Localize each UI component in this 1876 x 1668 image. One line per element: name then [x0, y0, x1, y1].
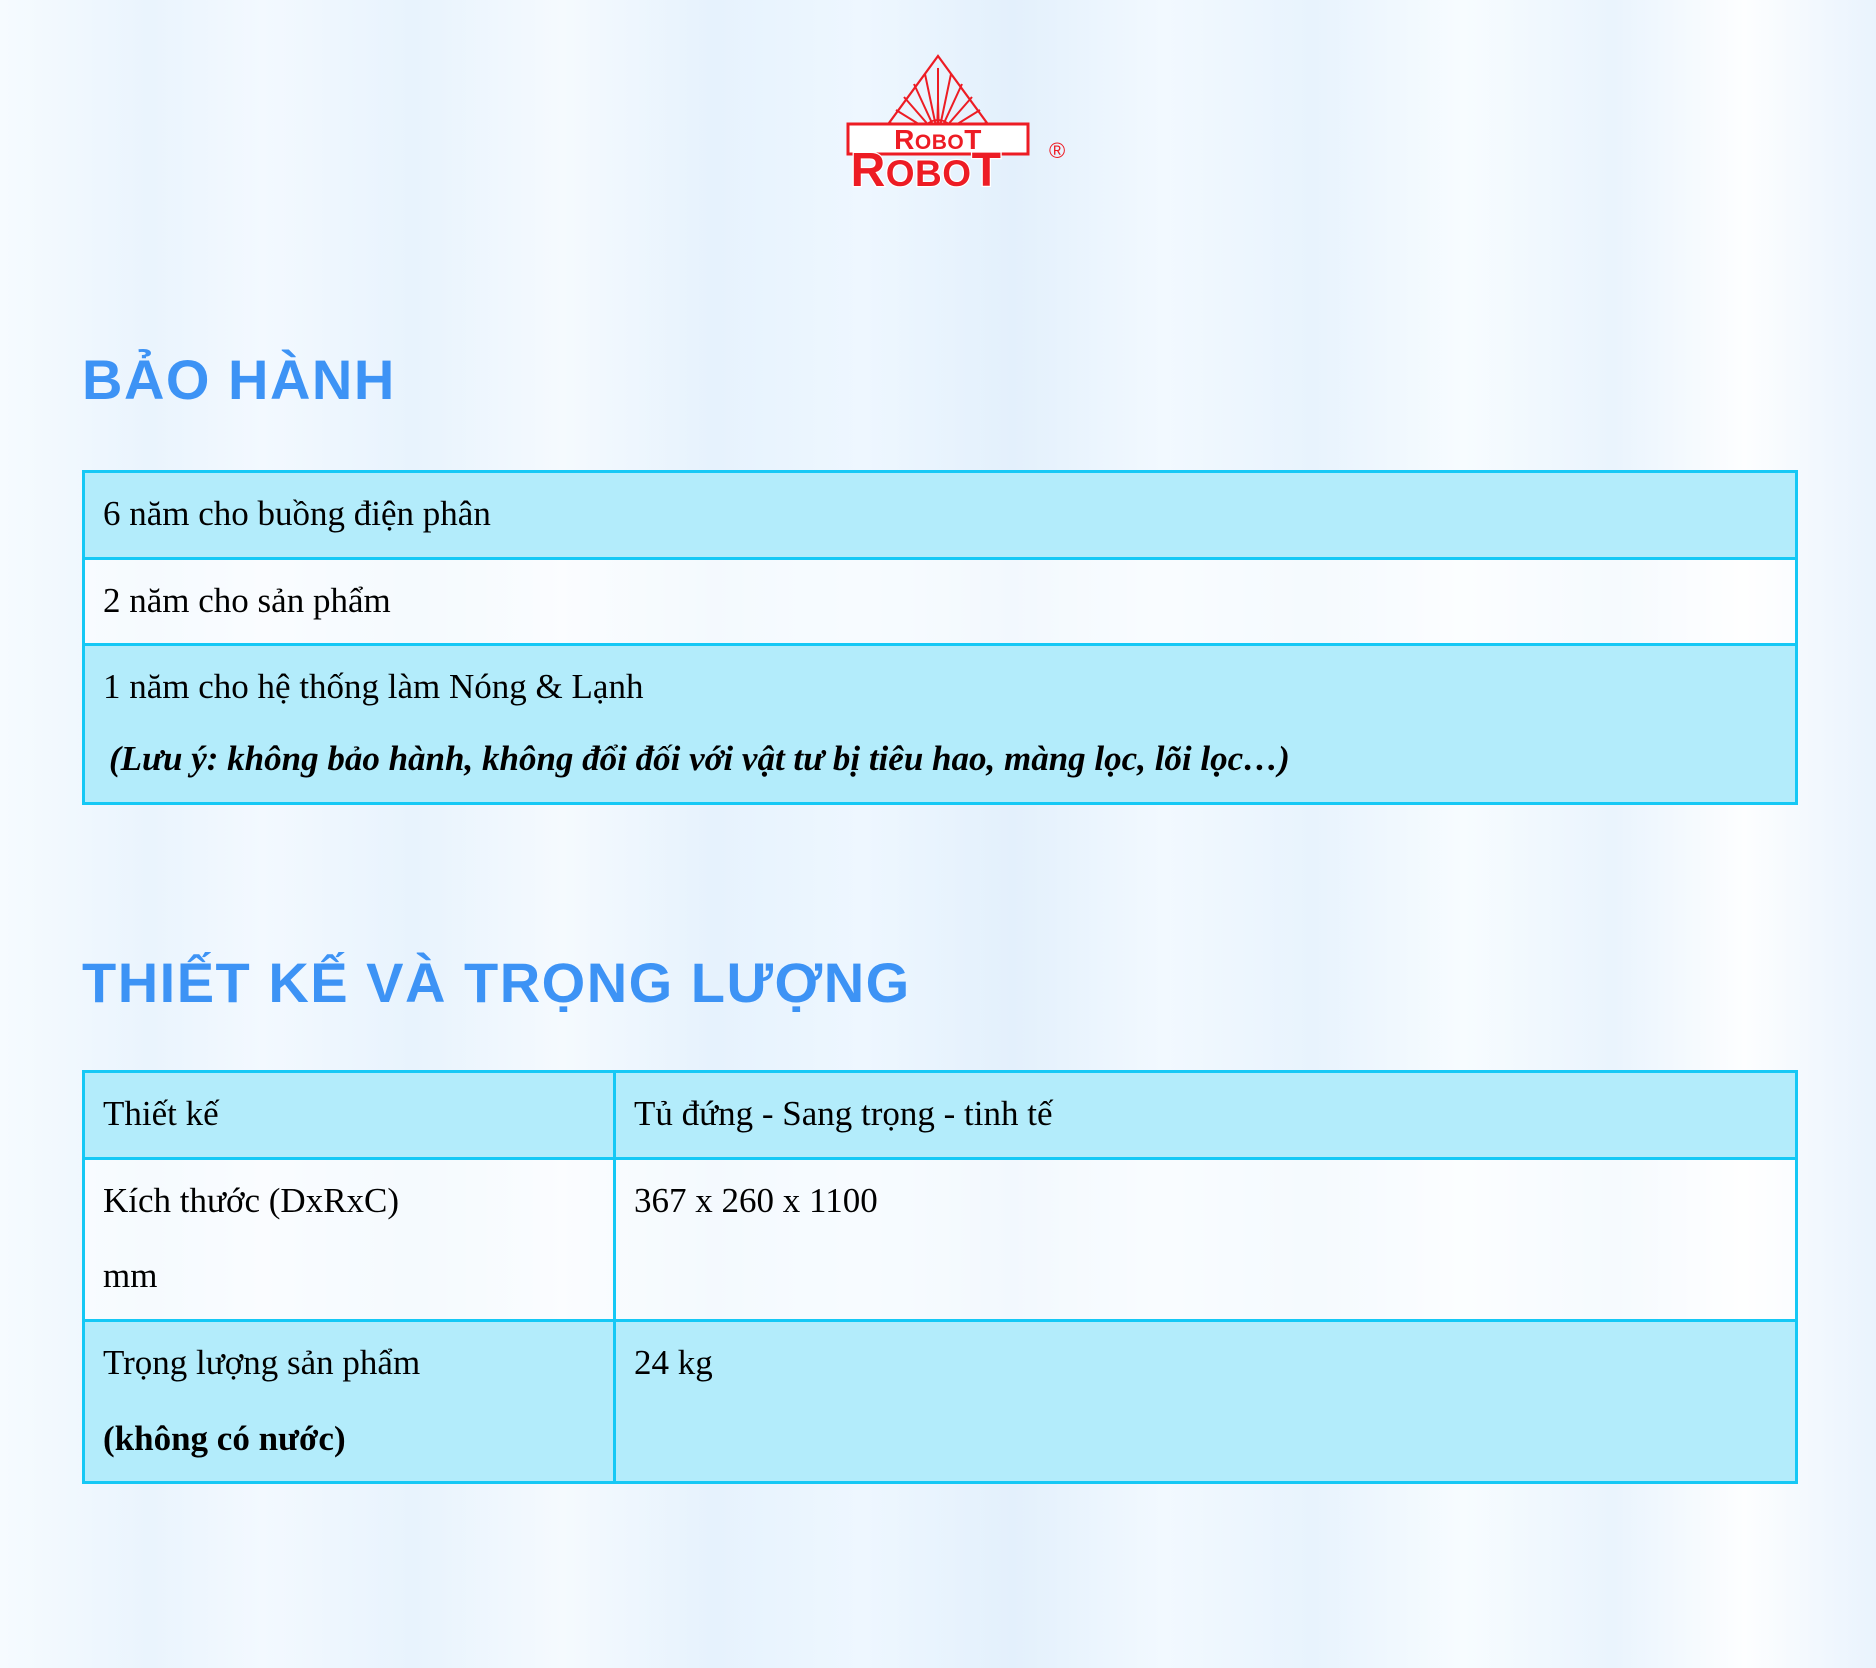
svg-text:®: ® — [1049, 138, 1065, 163]
warranty-item-hot-cold-text: 1 năm cho hệ thống làm Nóng & Lạnh — [103, 667, 643, 706]
table-row: 6 năm cho buồng điện phân — [84, 472, 1797, 559]
robot-logo: ROBOT ROBOT ® — [768, 48, 1108, 188]
warranty-section-heading: BẢO HÀNH — [82, 352, 396, 408]
weight-value: 24 kg — [615, 1321, 1797, 1483]
dimensions-label-line1: Kích thước (DxRxC) — [103, 1181, 399, 1220]
table-row: 1 năm cho hệ thống làm Nóng & Lạnh (Lưu … — [84, 645, 1797, 803]
brand-logo-container: ROBOT ROBOT ® — [0, 48, 1876, 188]
design-weight-table: Thiết kế Tủ đứng - Sang trọng - tinh tế … — [82, 1070, 1798, 1484]
dimensions-label: Kích thước (DxRxC) mm — [84, 1158, 615, 1320]
design-label: Thiết kế — [84, 1072, 615, 1159]
design-value: Tủ đứng - Sang trọng - tinh tế — [615, 1072, 1797, 1159]
weight-label-qualifier: (không có nước) — [103, 1414, 595, 1464]
weight-label: Trọng lượng sản phẩm (không có nước) — [84, 1321, 615, 1483]
warranty-item-electrolysis-chamber: 6 năm cho buồng điện phân — [84, 472, 1797, 559]
table-row: 2 năm cho sản phẩm — [84, 558, 1797, 645]
design-section-heading: THIẾT KẾ VÀ TRỌNG LƯỢNG — [82, 955, 911, 1011]
weight-label-line1: Trọng lượng sản phẩm — [103, 1343, 420, 1382]
dimensions-label-unit: mm — [103, 1251, 595, 1301]
robot-logo-icon: ROBOT ROBOT ® — [768, 48, 1108, 188]
warranty-item-product: 2 năm cho sản phẩm — [84, 558, 1797, 645]
dimensions-value: 367 x 260 x 1100 — [615, 1158, 1797, 1320]
table-row: Kích thước (DxRxC) mm 367 x 260 x 1100 — [84, 1158, 1797, 1320]
warranty-item-hot-cold-system: 1 năm cho hệ thống làm Nóng & Lạnh (Lưu … — [84, 645, 1797, 803]
product-spec-page: ROBOT ROBOT ® BẢO HÀNH 6 năm cho buồng đ… — [0, 0, 1876, 1668]
warranty-table: 6 năm cho buồng điện phân 2 năm cho sản … — [82, 470, 1798, 805]
table-row: Trọng lượng sản phẩm (không có nước) 24 … — [84, 1321, 1797, 1483]
table-row: Thiết kế Tủ đứng - Sang trọng - tinh tế — [84, 1072, 1797, 1159]
warranty-exclusion-note: (Lưu ý: không bảo hành, không đổi đối vớ… — [103, 734, 1777, 784]
